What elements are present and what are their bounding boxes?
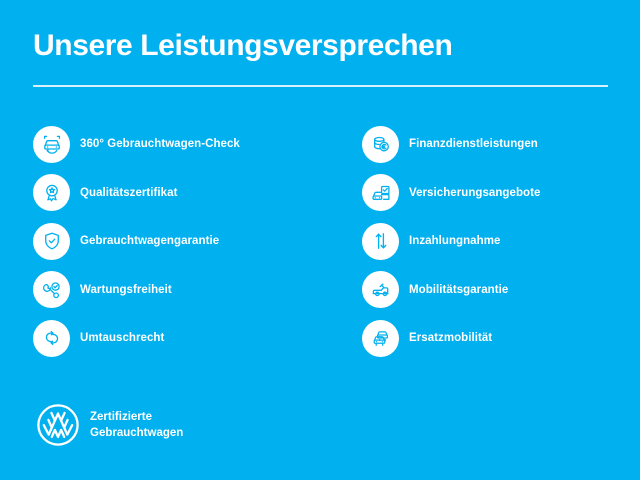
feature-label: Qualitätszertifikat	[80, 187, 177, 199]
features-column-right: Finanzdienstleistungen Versicherungsange…	[362, 120, 540, 363]
wrench-check-icon	[33, 271, 70, 308]
brand-line-1: Zertifizierte	[90, 411, 152, 423]
shield-check-icon	[33, 223, 70, 260]
feature-item: Finanzdienstleistungen	[362, 120, 540, 169]
quality-seal-icon	[33, 174, 70, 211]
feature-item: Qualitätszertifikat	[33, 169, 240, 218]
slide-root: Unsere Leistungsversprechen	[0, 0, 640, 480]
feature-label: Mobilitätsgarantie	[409, 284, 508, 296]
feature-label: Umtauschrecht	[80, 332, 164, 344]
feature-label: Finanzdienstleistungen	[409, 138, 538, 150]
feature-item: 360° Gebrauchtwagen-Check	[33, 120, 240, 169]
two-cars-icon	[362, 320, 399, 357]
feature-item: Mobilitätsgarantie	[362, 266, 540, 315]
car-document-icon	[362, 174, 399, 211]
feature-label: 360° Gebrauchtwagen-Check	[80, 138, 240, 150]
page-title: Unsere Leistungsversprechen	[33, 29, 452, 62]
feature-item: Inzahlungnahme	[362, 217, 540, 266]
feature-label: Ersatzmobilität	[409, 332, 492, 344]
up-down-arrows-icon	[362, 223, 399, 260]
feature-item: Umtauschrecht	[33, 314, 240, 363]
brand-line-2: Gebrauchtwagen	[90, 427, 183, 439]
exchange-arrows-icon	[33, 320, 70, 357]
feature-label: Versicherungsangebote	[409, 187, 540, 199]
tow-truck-icon	[362, 271, 399, 308]
feature-item: Versicherungsangebote	[362, 169, 540, 218]
car-inspection-icon	[33, 126, 70, 163]
feature-item: Ersatzmobilität	[362, 314, 540, 363]
brand-lockup: ZertifizierteGebrauchtwagen	[36, 403, 183, 447]
coins-euro-icon	[362, 126, 399, 163]
feature-label: Gebrauchtwagengarantie	[80, 235, 219, 247]
features-column-left: 360° Gebrauchtwagen-Check Qualitätszerti…	[33, 120, 240, 363]
feature-item: Wartungsfreiheit	[33, 266, 240, 315]
title-divider	[33, 85, 608, 87]
feature-label: Inzahlungnahme	[409, 235, 500, 247]
feature-label: Wartungsfreiheit	[80, 284, 172, 296]
brand-text: ZertifizierteGebrauchtwagen	[90, 409, 183, 442]
feature-item: Gebrauchtwagengarantie	[33, 217, 240, 266]
volkswagen-logo-icon	[36, 403, 80, 447]
